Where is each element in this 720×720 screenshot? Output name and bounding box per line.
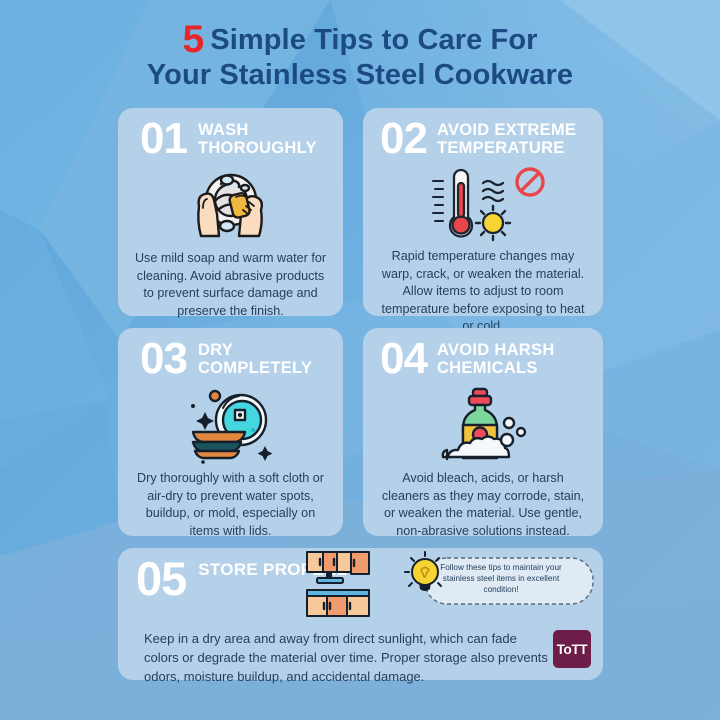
- kitchen-cabinets-storage-icon: [303, 550, 383, 618]
- tip-card-1: 01 WASH THOROUGHLY: [118, 108, 343, 316]
- tip-card-3: 03 DRY COMPLETELY: [118, 328, 343, 536]
- card-1-icon-area: [118, 162, 343, 250]
- brand-logo: ToTT: [553, 630, 591, 668]
- card-4-body: Avoid bleach, acids, or harsh cleaners a…: [363, 470, 603, 540]
- card-5-number: 05: [136, 556, 186, 602]
- card-4-number: 04: [380, 338, 427, 380]
- card-1-body: Use mild soap and warm water for cleanin…: [118, 250, 343, 320]
- card-4-header: 04 AVOID HARSH CHEMICALS: [363, 328, 603, 380]
- card-3-body: Dry thoroughly with a soft cloth or air-…: [118, 470, 343, 540]
- card-5-top-row: 05 STORE PROPERLY: [118, 548, 603, 620]
- card-2-icon-area: [363, 164, 603, 248]
- card-1-title: WASH THOROUGHLY: [198, 118, 343, 157]
- card-2-title: AVOID EXTREME TEMPERATURE: [437, 118, 603, 157]
- title-line-1-text: Simple Tips to Care For: [210, 24, 537, 56]
- title-line-2: Your Stainless Steel Cookware: [0, 58, 720, 93]
- tip-card-5: 05 STORE PROPERLY: [118, 548, 603, 680]
- tip-card-4: 04 AVOID HARSH CHEMICALS Avoid blea: [363, 328, 603, 536]
- card-1-number: 01: [140, 118, 187, 160]
- card-4-title: AVOID HARSH CHEMICALS: [437, 338, 603, 377]
- card-3-title: DRY COMPLETELY: [198, 338, 343, 377]
- card-3-icon-area: [118, 386, 343, 470]
- clean-sparkling-dishes-stack-icon: [179, 388, 283, 468]
- tip-card-2: 02 AVOID EXTREME TEMPERATURE: [363, 108, 603, 316]
- title-line-1: 5Simple Tips to Care For: [0, 22, 720, 58]
- card-4-icon-area: [363, 386, 603, 470]
- card-2-number: 02: [380, 118, 427, 160]
- card-3-number: 03: [140, 338, 187, 380]
- page-title: 5Simple Tips to Care For Your Stainless …: [0, 22, 720, 93]
- card-5-body: Keep in a dry area and away from direct …: [118, 629, 548, 686]
- card-2-body: Rapid temperature changes may warp, crac…: [363, 248, 603, 336]
- tips-count: 5: [182, 18, 204, 61]
- card-3-header: 03 DRY COMPLETELY: [118, 328, 343, 380]
- tip-text: Follow these tips to maintain your stain…: [426, 562, 576, 596]
- hands-washing-plate-with-sponge-icon: [183, 164, 279, 248]
- card-1-header: 01 WASH THOROUGHLY: [118, 108, 343, 160]
- detergent-bottle-foam-icon: [429, 387, 537, 469]
- card-2-header: 02 AVOID EXTREME TEMPERATURE: [363, 108, 603, 160]
- thermometer-heat-sun-prohibited-icon: [413, 165, 553, 247]
